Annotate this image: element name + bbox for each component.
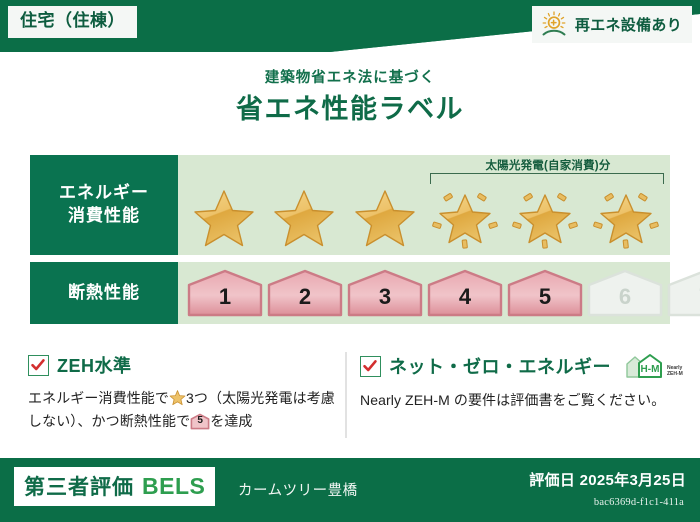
bels-badge: 第三者評価 BELS bbox=[14, 467, 215, 506]
star-solar-icon bbox=[508, 181, 582, 251]
svg-text:H-M: H-M bbox=[641, 364, 660, 375]
zeh-standard-title: ZEH水準 bbox=[57, 352, 132, 378]
house-level-badge: 3 bbox=[346, 268, 424, 318]
house-level-badge: 7 bbox=[666, 268, 700, 318]
energy-header-line2: 消費性能 bbox=[68, 205, 140, 228]
star-solar-icon bbox=[589, 181, 663, 251]
zeh-standard-header: ZEH水準 bbox=[28, 352, 346, 378]
house-level-number: 2 bbox=[266, 284, 344, 310]
house-level-badge-inline: 5 bbox=[190, 413, 210, 430]
evaluation-date-value: 2025年3月25日 bbox=[580, 472, 686, 489]
house-level-badge: 4 bbox=[426, 268, 504, 318]
energy-header-line1: エネルギー bbox=[59, 182, 149, 205]
renewable-equipment-tag: 再エネ設備あり bbox=[532, 6, 692, 43]
energy-row-header: エネルギー 消費性能 bbox=[30, 155, 178, 255]
zeh-desc-part1: エネルギー消費性能で bbox=[28, 390, 169, 406]
bels-mark-label: BELS bbox=[142, 473, 205, 500]
insulation-performance-row: 断熱性能 1 bbox=[30, 262, 670, 324]
insulation-row-body: 1 2 3 4 bbox=[178, 262, 670, 324]
house-level-number: 3 bbox=[346, 284, 424, 310]
zeh-standard-description: エネルギー消費性能で3つ（太陽光発電は考慮しない）、かつ断熱性能で5を達成 bbox=[28, 387, 346, 432]
bels-prefix-label: 第三者評価 bbox=[24, 471, 134, 501]
star-icon bbox=[187, 181, 261, 251]
house-level-badge: 1 bbox=[186, 268, 264, 318]
evaluation-date: 評価日 2025年3月25日 bbox=[529, 469, 686, 490]
star-icon bbox=[169, 389, 186, 406]
dwelling-type-tag: 住宅（住棟） bbox=[8, 6, 137, 38]
energy-performance-row: エネルギー 消費性能 太陽光発電(自家消費)分 bbox=[30, 155, 670, 255]
check-icon bbox=[360, 356, 381, 377]
house-level-number: 1 bbox=[186, 284, 264, 310]
house-level-number: 5 bbox=[506, 284, 584, 310]
insulation-row-header: 断熱性能 bbox=[30, 262, 178, 324]
house-level-badge: 6 bbox=[586, 268, 664, 318]
star-solar-icon bbox=[428, 181, 502, 251]
house-level-number: 5 bbox=[190, 416, 210, 426]
label-subtitle: 建築物省エネ法に基づく bbox=[0, 66, 700, 87]
svg-text:ZEH-M: ZEH-M bbox=[667, 371, 683, 377]
solar-bracket-label: 太陽光発電(自家消費)分 bbox=[432, 157, 664, 173]
evaluation-id: bac6369d-f1c1-411a bbox=[594, 497, 684, 508]
insulation-level-group: 1 2 3 4 bbox=[186, 268, 662, 318]
star-icon bbox=[348, 181, 422, 251]
net-zero-energy-header: ネット・ゼロ・エネルギー H-M Nearly ZEH-M bbox=[360, 352, 678, 380]
energy-row-body: 太陽光発電(自家消費)分 bbox=[178, 155, 670, 255]
evaluation-date-label: 評価日 bbox=[529, 472, 575, 489]
energy-performance-label: 住宅（住棟） 再エネ設備あり bbox=[0, 0, 700, 522]
house-level-number: 6 bbox=[586, 284, 664, 310]
house-level-number: 7 bbox=[666, 284, 700, 310]
house-level-number: 4 bbox=[426, 284, 504, 310]
house-level-badge: 2 bbox=[266, 268, 344, 318]
renewable-tag-label: 再エネ設備あり bbox=[575, 14, 682, 35]
star-icon bbox=[267, 181, 341, 251]
net-zero-energy-block: ネット・ゼロ・エネルギー H-M Nearly ZEH-M Nearly ZEH… bbox=[360, 352, 678, 412]
net-zero-energy-title: ネット・ゼロ・エネルギー bbox=[389, 353, 611, 379]
zeh-desc-part3: を達成 bbox=[210, 413, 252, 429]
sun-renewable-icon-svg bbox=[540, 11, 568, 37]
sun-renewable-icon bbox=[540, 11, 568, 37]
house-level-badge: 5 bbox=[506, 268, 584, 318]
feature-divider bbox=[345, 352, 347, 438]
zeh-standard-block: ZEH水準 エネルギー消費性能で3つ（太陽光発電は考慮しない）、かつ断熱性能で5… bbox=[28, 352, 346, 432]
star-rating-group bbox=[184, 181, 666, 251]
building-name: カームツリー豊橋 bbox=[238, 479, 358, 500]
nearly-zeh-m-logo: H-M Nearly ZEH-M bbox=[619, 352, 691, 380]
label-main-title: 省エネ性能ラベル bbox=[0, 87, 700, 126]
check-icon bbox=[28, 355, 49, 376]
net-zero-energy-description: Nearly ZEH-M の要件は評価書をご覧ください。 bbox=[360, 389, 678, 412]
label-footer: 第三者評価 BELS カームツリー豊橋 評価日 2025年3月25日 bac63… bbox=[0, 458, 700, 522]
